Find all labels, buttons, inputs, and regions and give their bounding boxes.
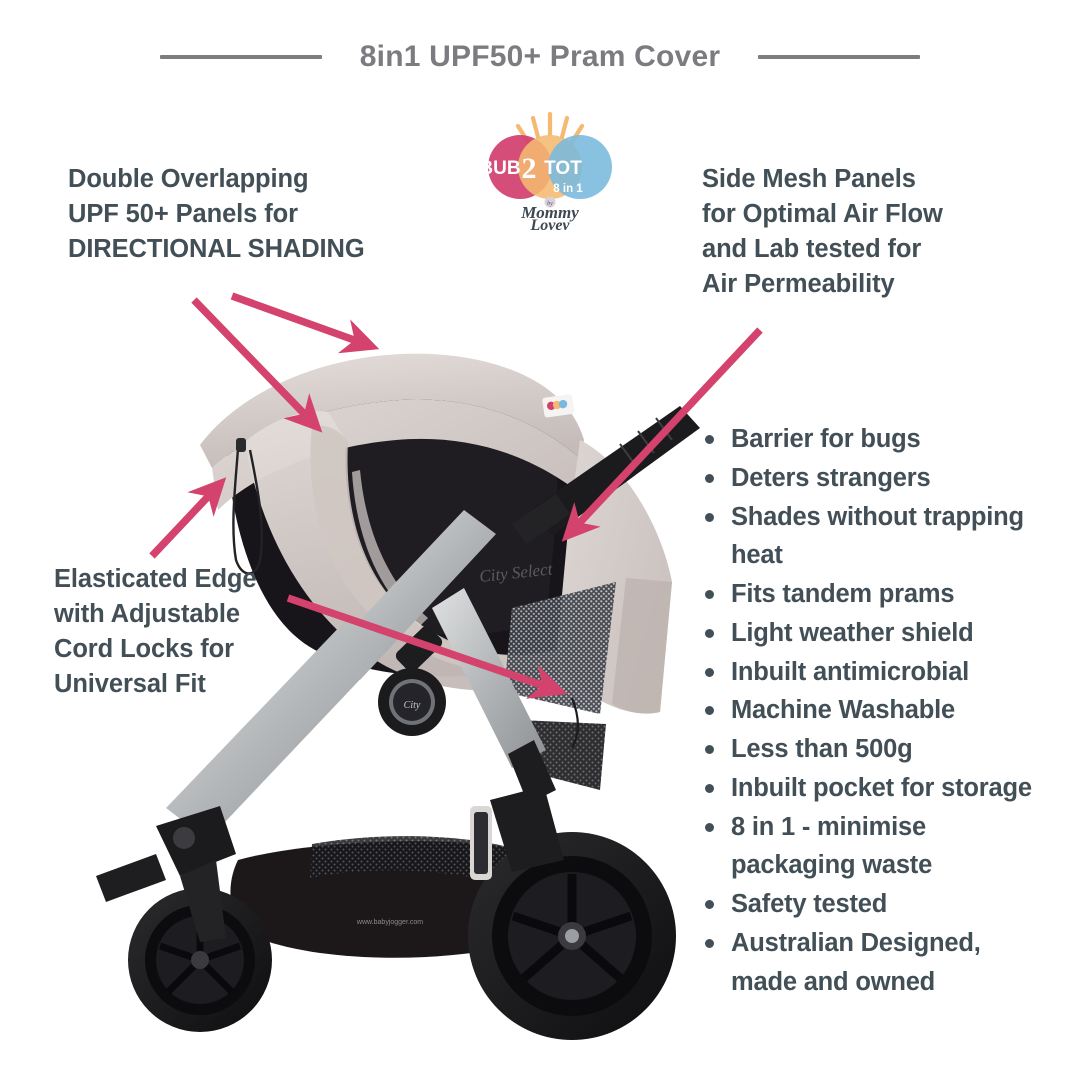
callout-elasticated-edge: Elasticated Edge with Adjustable Cord Lo… xyxy=(54,562,354,702)
infographic-page: 8in1 UPF50+ Pram Cover BUB 2 TOT 8 in 1 xyxy=(0,0,1080,1080)
list-item: Safety tested xyxy=(700,885,1050,924)
list-item: Inbuilt antimicrobial xyxy=(700,653,1050,692)
header-rule-right xyxy=(758,55,920,59)
callout-line: Side Mesh Panels xyxy=(702,162,1032,197)
callout-side-mesh-panels: Side Mesh Panels for Optimal Air Flow an… xyxy=(702,162,1032,302)
list-item: Less than 500g xyxy=(700,730,1050,769)
page-header: 8in1 UPF50+ Pram Cover xyxy=(0,40,1080,74)
logo-word-2: 2 xyxy=(522,152,537,185)
list-item: Barrier for bugs xyxy=(700,420,1050,459)
logo-badge-8in1: 8 in 1 xyxy=(553,183,583,195)
list-item: 8 in 1 - minimise packaging waste xyxy=(700,808,1050,886)
brand-logo: BUB 2 TOT 8 in 1 by Mommy Lovey xyxy=(470,112,630,230)
list-item: Light weather shield xyxy=(700,614,1050,653)
callout-line: Air Permeability xyxy=(702,267,1032,302)
cover-brand-tag xyxy=(542,394,574,418)
list-item: Shades without trapping heat xyxy=(700,498,1050,576)
cord-lock-toggle xyxy=(236,438,246,452)
logo-word-tot: TOT xyxy=(544,158,582,179)
header-rule-left xyxy=(160,55,322,59)
logo-brand-line2: Lovey xyxy=(529,217,570,230)
frame-hub-joint: City xyxy=(378,668,446,736)
svg-text:City: City xyxy=(404,700,421,711)
basket-website-tag: www.babyjogger.com xyxy=(356,919,423,926)
callout-line: and Lab tested for xyxy=(702,232,1032,267)
logo-word-bub: BUB xyxy=(479,158,520,179)
callout-line: Elasticated Edge xyxy=(54,562,354,597)
list-item: Fits tandem prams xyxy=(700,575,1050,614)
list-item: Machine Washable xyxy=(700,691,1050,730)
callout-line: with Adjustable xyxy=(54,597,354,632)
callout-line: Universal Fit xyxy=(54,667,354,702)
rear-wheel xyxy=(468,832,676,1040)
callout-line: for Optimal Air Flow xyxy=(702,197,1032,232)
callout-line: UPF 50+ Panels for xyxy=(68,197,428,232)
callout-line: DIRECTIONAL SHADING xyxy=(68,232,428,267)
callout-line: Cord Locks for xyxy=(54,632,354,667)
list-item: Inbuilt pocket for storage xyxy=(700,769,1050,808)
callout-line: Double Overlapping xyxy=(68,162,428,197)
page-title: 8in1 UPF50+ Pram Cover xyxy=(360,40,720,74)
feature-list: Barrier for bugs Deters strangers Shades… xyxy=(700,420,1050,1001)
list-item: Australian Designed, made and owned xyxy=(700,924,1050,1002)
list-item: Deters strangers xyxy=(700,459,1050,498)
callout-double-overlapping: Double Overlapping UPF 50+ Panels for DI… xyxy=(68,162,428,267)
